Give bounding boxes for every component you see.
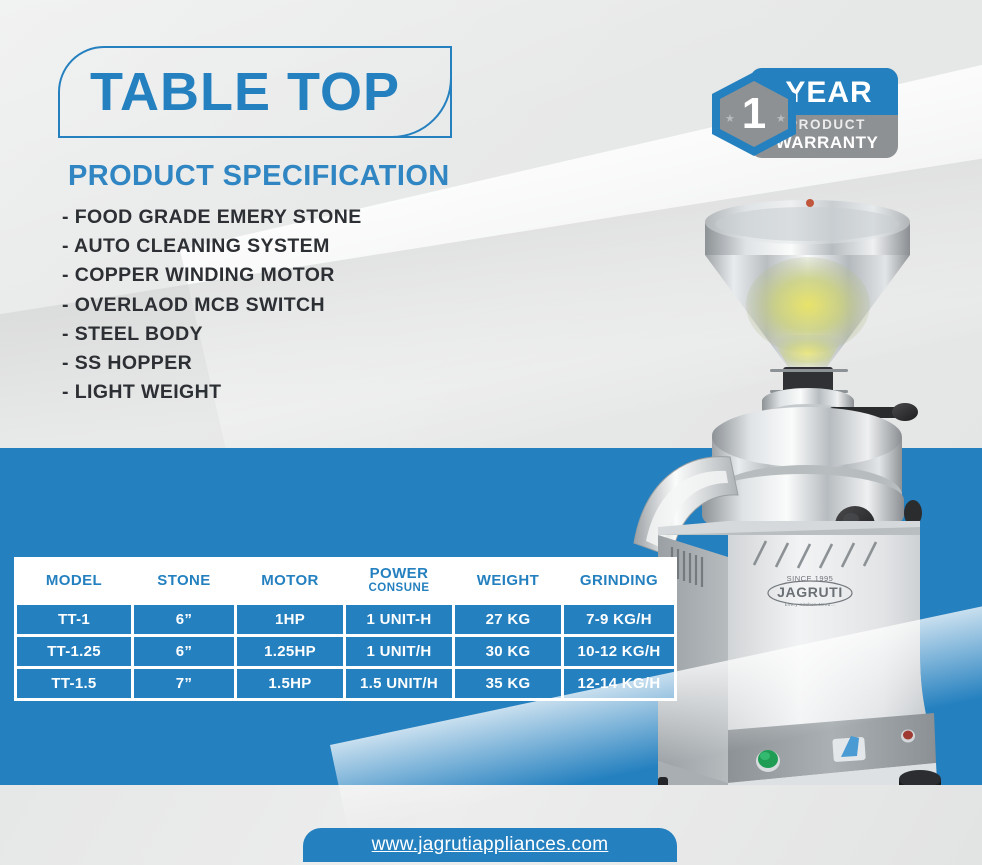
spec-heading: PRODUCT SPECIFICATION xyxy=(68,160,450,193)
table-header-row: MODEL STONE MOTOR POWER CONSUNE WEIGHT G… xyxy=(17,560,674,602)
badge-number: 1 xyxy=(706,70,802,158)
column-header-motor: MOTOR xyxy=(237,560,343,602)
table-row: TT-1.25 6” 1.25HP 1 UNIT/H 30 KG 10-12 K… xyxy=(17,637,674,666)
list-item: - COPPER WINDING MOTOR xyxy=(62,261,362,290)
cell-stone: 6” xyxy=(134,637,234,666)
poster-canvas: TABLE TOP PRODUCT SPECIFICATION - FOOD G… xyxy=(0,0,982,865)
table-row: TT-1 6” 1HP 1 UNIT-H 27 KG 7-9 KG/H xyxy=(17,605,674,634)
cell-model: TT-1.25 xyxy=(17,637,131,666)
cell-weight: 35 KG xyxy=(455,669,561,698)
list-item: - AUTO CLEANING SYSTEM xyxy=(62,232,362,261)
star-icon-left: ★ xyxy=(725,112,735,125)
cell-model: TT-1 xyxy=(17,605,131,634)
brand-logo-text: JAGRUTI xyxy=(777,584,843,600)
specification-table: MODEL STONE MOTOR POWER CONSUNE WEIGHT G… xyxy=(14,557,677,701)
spec-list: - FOOD GRADE EMERY STONE - AUTO CLEANING… xyxy=(62,203,362,407)
cell-grinding: 10-12 KG/H xyxy=(564,637,674,666)
page-title: TABLE TOP xyxy=(90,52,400,132)
cell-weight: 30 KG xyxy=(455,637,561,666)
column-header-power-consume: POWER CONSUNE xyxy=(346,560,452,602)
list-item: - STEEL BODY xyxy=(62,320,362,349)
cell-power: 1 UNIT-H xyxy=(346,605,452,634)
list-item: - OVERLAOD MCB SWITCH xyxy=(62,291,362,320)
cell-weight: 27 KG xyxy=(455,605,561,634)
website-url-link[interactable]: www.jagrutiappliances.com xyxy=(303,828,677,862)
column-header-weight: WEIGHT xyxy=(455,560,561,602)
column-header-model: MODEL xyxy=(17,560,131,602)
cell-motor: 1.5HP xyxy=(237,669,343,698)
cell-grinding: 7-9 KG/H xyxy=(564,605,674,634)
cell-stone: 6” xyxy=(134,605,234,634)
column-header-grinding: GRINDING xyxy=(564,560,674,602)
column-header-stone: STONE xyxy=(134,560,234,602)
cell-stone: 7” xyxy=(134,669,234,698)
cell-motor: 1.25HP xyxy=(237,637,343,666)
cell-power: 1 UNIT/H xyxy=(346,637,452,666)
cell-motor: 1HP xyxy=(237,605,343,634)
cell-model: TT-1.5 xyxy=(17,669,131,698)
list-item: - FOOD GRADE EMERY STONE xyxy=(62,203,362,232)
list-item: - SS HOPPER xyxy=(62,349,362,378)
warranty-badge: YEAR PRODUCT WARRANTY 1 ★ ★ xyxy=(706,68,898,158)
cell-power: 1.5 UNIT/H xyxy=(346,669,452,698)
brand-tagline-text: Every Kitchen Need... xyxy=(785,602,836,607)
list-item: - LIGHT WEIGHT xyxy=(62,378,362,407)
star-icon-right: ★ xyxy=(776,112,786,125)
